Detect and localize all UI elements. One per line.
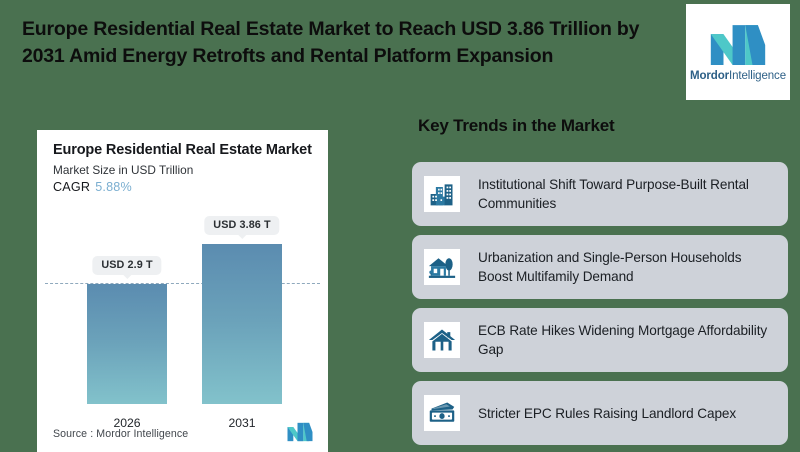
cagr-label: CAGR [53,180,90,194]
city-buildings-icon [424,176,460,212]
trend-text: Institutional Shift Toward Purpose-Built… [478,175,778,213]
chart-cagr: CAGR5.88% [53,180,132,194]
chart-panel: Europe Residential Real Estate Market Ma… [37,130,328,452]
banknotes-icon [424,395,460,431]
bar-chart-plot: USD 2.9 T 2026 USD 3.86 T 2031 [37,204,328,452]
bar-value-label: USD 2.9 T [92,256,161,275]
brand-wordmark: MordorIntelligence [690,70,786,82]
trend-text: Stricter EPC Rules Raising Landlord Cape… [478,404,736,423]
bar-value-label: USD 3.86 T [204,216,279,235]
trend-card[interactable]: Institutional Shift Toward Purpose-Built… [412,162,788,226]
trend-list: Institutional Shift Toward Purpose-Built… [412,162,788,452]
cagr-value: 5.88% [95,180,132,194]
bar-group-2031: USD 3.86 T 2031 [202,244,282,404]
house-icon [424,322,460,358]
mordor-m-logo-icon [709,23,767,67]
trend-text: Urbanization and Single-Person Household… [478,248,778,286]
chart-subtitle: Market Size in USD Trillion [53,163,193,177]
trends-heading: Key Trends in the Market [418,116,614,136]
trend-card[interactable]: Urbanization and Single-Person Household… [412,235,788,299]
bar-group-2026: USD 2.9 T 2026 [87,284,167,404]
bar [87,284,167,404]
chart-title: Europe Residential Real Estate Market [53,142,312,158]
brand-name-light: Intelligence [729,70,786,82]
header: Europe Residential Real Estate Market to… [0,0,800,104]
brand-name-bold: Mordor [690,70,729,82]
bar-category-label: 2031 [228,416,255,430]
bar [202,244,282,404]
house-with-tree-icon [424,249,460,285]
trend-text: ECB Rate Hikes Widening Mortgage Afforda… [478,321,778,359]
chart-source: Source : Mordor Intelligence [53,428,188,440]
mordor-m-logo-icon [286,422,314,442]
trend-card[interactable]: ECB Rate Hikes Widening Mortgage Afforda… [412,308,788,372]
brand-logo: MordorIntelligence [686,4,790,100]
page-title: Europe Residential Real Estate Market to… [22,16,662,70]
trend-card[interactable]: Stricter EPC Rules Raising Landlord Cape… [412,381,788,445]
